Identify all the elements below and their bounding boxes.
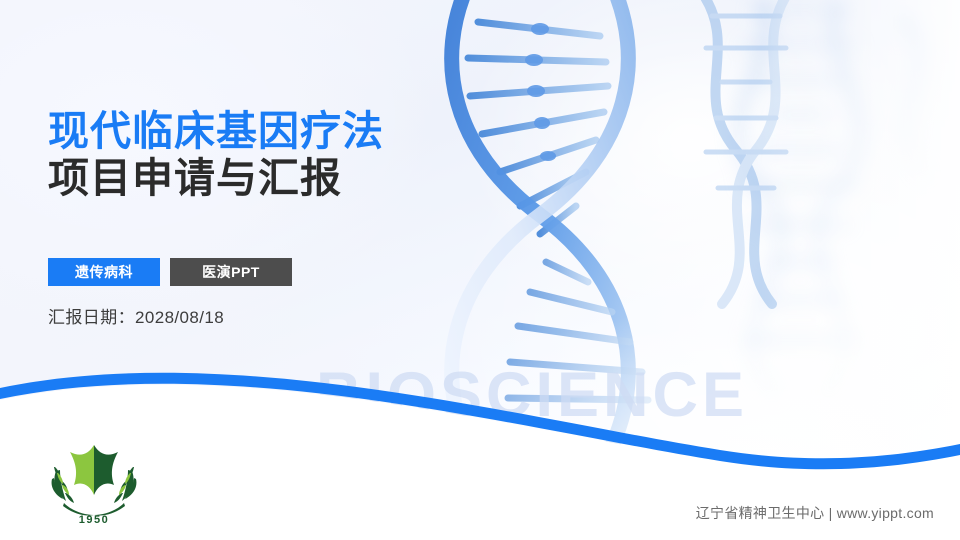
institution-logo: 1950 <box>42 437 146 525</box>
watermark-text: BIOSCIENCE <box>316 359 748 431</box>
footer-credit: 辽宁省精神卫生中心 | www.yippt.com <box>696 503 934 523</box>
badge-department: 遗传病科 <box>48 258 160 286</box>
presentation-slide: BIOSCIENCE 现代临床基因疗法 项目申请与汇报 遗传病科 医演PPT 汇… <box>0 0 960 540</box>
slide-title: 现代临床基因疗法 项目申请与汇报 <box>48 108 568 201</box>
logo-year-label: 1950 <box>79 514 109 525</box>
title-line-primary: 现代临床基因疗法 <box>48 108 568 155</box>
report-date: 汇报日期：2028/08/18 <box>48 303 224 328</box>
badge-group: 遗传病科 医演PPT <box>48 258 292 286</box>
badge-brand: 医演PPT <box>170 258 292 286</box>
title-line-secondary: 项目申请与汇报 <box>48 155 568 202</box>
